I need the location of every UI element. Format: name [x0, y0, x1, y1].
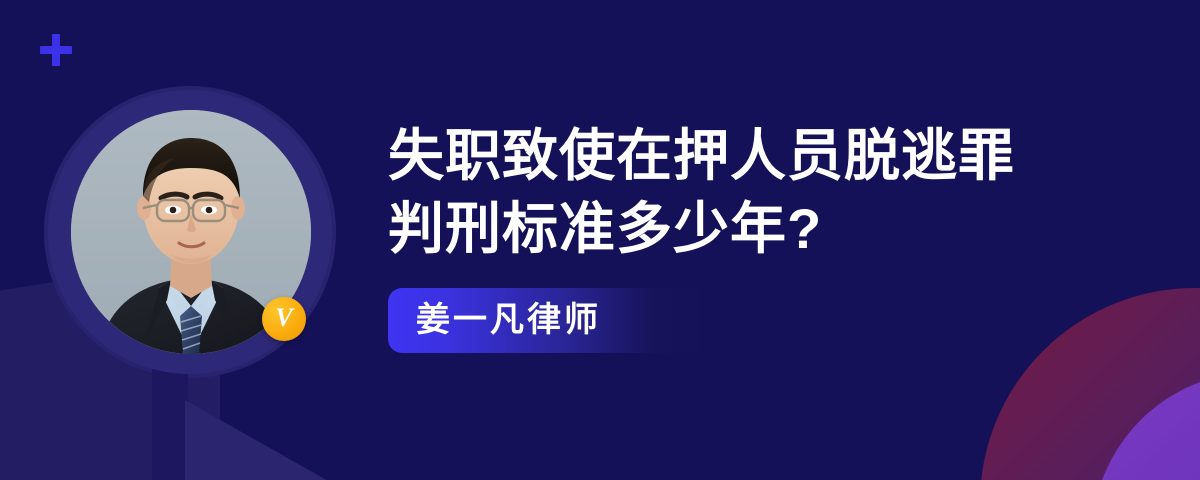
page-title: 失职致使在押人员脱逃罪 判刑标准多少年?: [388, 120, 1148, 266]
plus-icon-vertical-bar: [52, 34, 60, 66]
author-name-label: 姜一凡律师: [416, 301, 601, 339]
verified-check-glyph: V: [275, 305, 292, 331]
author-name-chip[interactable]: 姜一凡律师: [388, 288, 710, 353]
lawyer-question-banner: V 失职致使在押人员脱逃罪 判刑标准多少年? 姜一凡律师: [0, 0, 1200, 480]
verified-badge: V: [262, 297, 306, 341]
content-block: 失职致使在押人员脱逃罪 判刑标准多少年? 姜一凡律师: [388, 120, 1148, 353]
decorative-violet-circle: [1092, 372, 1200, 480]
avatar[interactable]: V: [48, 90, 332, 374]
decorative-triangle: [185, 400, 330, 480]
plus-icon: [40, 34, 72, 66]
